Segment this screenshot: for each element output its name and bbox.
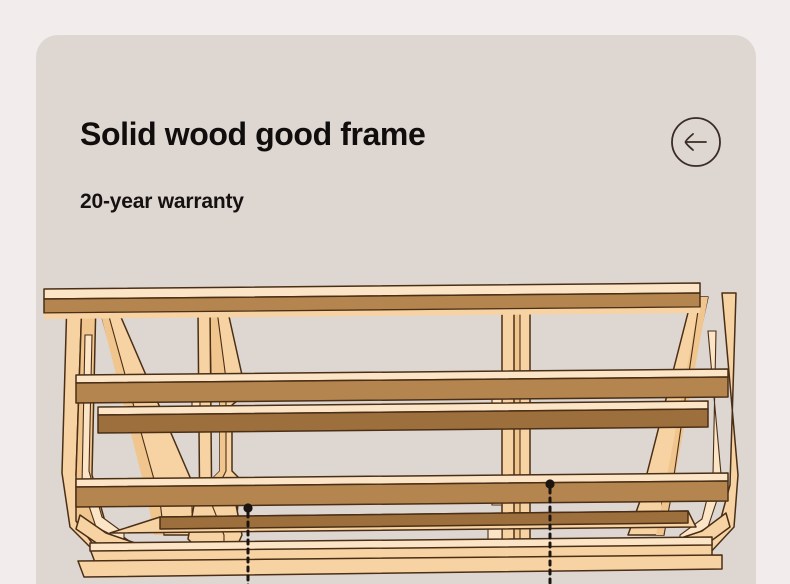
marker-left (243, 503, 252, 512)
arrow-left-circle-icon[interactable] (670, 116, 722, 168)
middle-rail-back (98, 401, 708, 433)
product-detail-page: .wl { fill:#f7d3a4; } .wm { fill:#f0c58e… (0, 0, 790, 584)
page-subtitle: 20-year warranty (80, 190, 244, 214)
lower-rail-front (76, 473, 728, 507)
middle-rail-front (76, 369, 728, 403)
top-rail (44, 283, 700, 319)
page-title: Solid wood good frame (80, 116, 425, 153)
feature-card: .wl { fill:#f7d3a4; } .wm { fill:#f0c58e… (36, 35, 756, 584)
back-button[interactable] (670, 116, 722, 168)
lower-platform (78, 511, 722, 577)
marker-right (545, 479, 554, 488)
